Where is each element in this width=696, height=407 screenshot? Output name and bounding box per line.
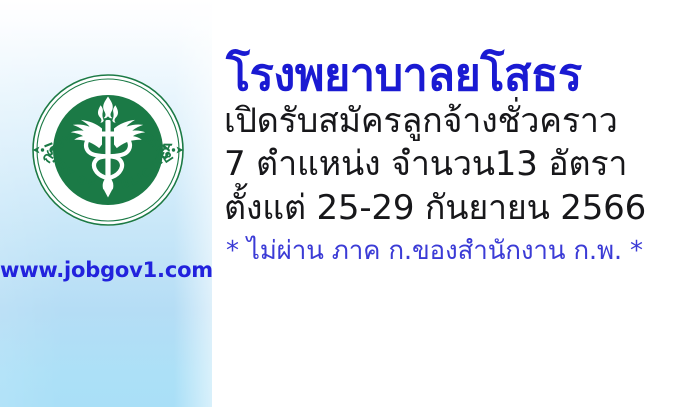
announcement-line-2: 7 ตำแหน่ง จำนวน13 อัตรา [216,143,696,187]
ministry-of-public-health-logo: กระทรวงสาธารณสุข MINISTRY OF PUBLIC HEAL… [20,62,196,238]
announcement-line-1: เปิดรับสมัครลูกจ้างชั่วคราว [216,100,696,144]
website-url[interactable]: www.jobgov1.com [0,258,212,282]
ministry-seal-icon: กระทรวงสาธารณสุข MINISTRY OF PUBLIC HEAL… [20,62,196,238]
announcement-footnote: * ไม่ผ่าน ภาค ก.ของสำนักงาน ก.พ. * [216,232,696,271]
job-announcement-banner: กระทรวงสาธารณสุข MINISTRY OF PUBLIC HEAL… [0,0,696,407]
page-title: โรงพยาบาลยโสธร [216,52,696,99]
announcement-text-block: โรงพยาบาลยโสธร เปิดรับสมัครลูกจ้างชั่วคร… [216,52,696,271]
announcement-line-3: ตั้งแต่ 25-29 กันยายน 2566 [216,187,696,231]
